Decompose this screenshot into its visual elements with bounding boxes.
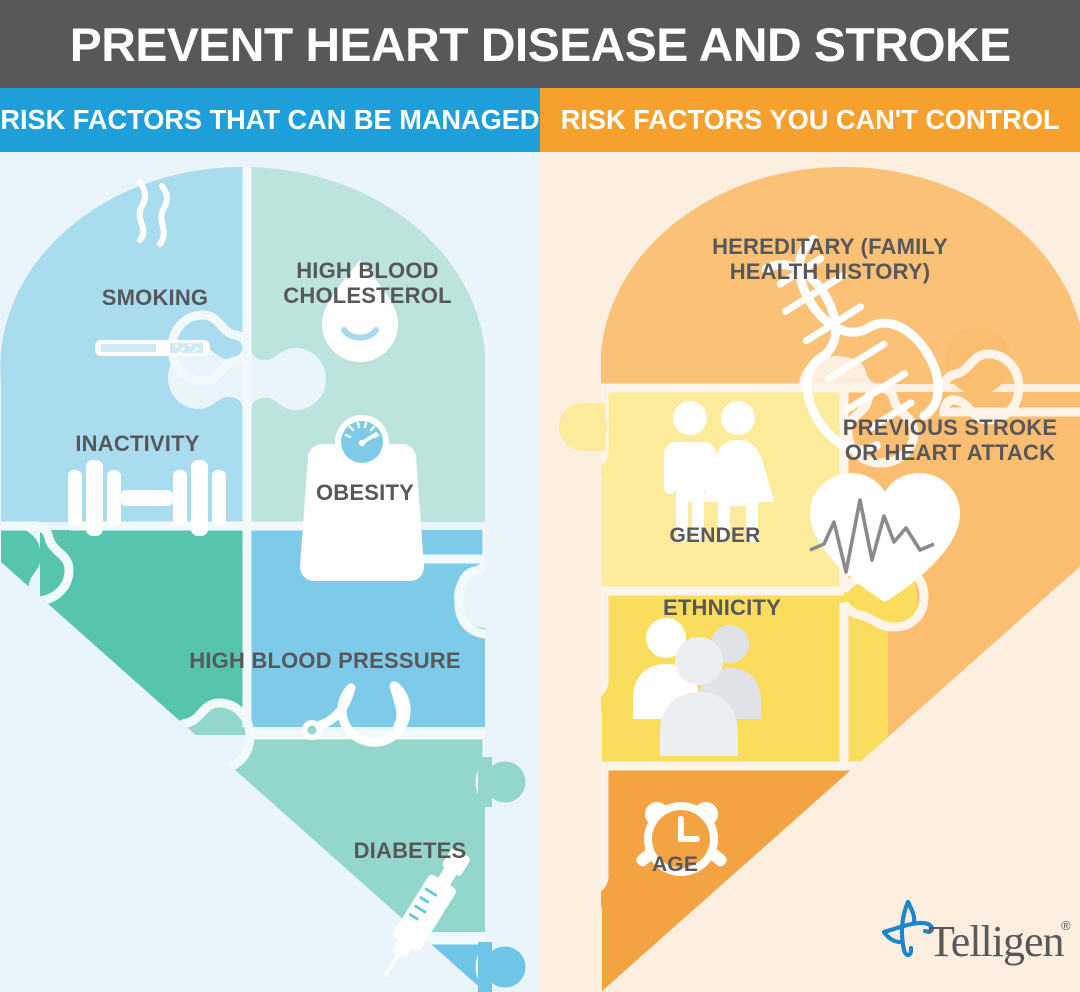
title-bar: PREVENT HEART DISEASE AND STROKE	[0, 0, 1080, 88]
telligen-logo: Telligen ®	[878, 898, 1068, 970]
right-section-title: RISK FACTORS YOU CAN'T CONTROL	[561, 104, 1060, 136]
left-section-title: RISK FACTORS THAT CAN BE MANAGED	[0, 104, 539, 136]
left-outer-knobs	[478, 757, 530, 992]
right-outer-knobs	[559, 403, 607, 451]
telligen-wordmark: Telligen	[928, 916, 1064, 967]
stethoscope-earpiece-icon	[302, 720, 322, 740]
infographic-root: PREVENT HEART DISEASE AND STROKE RISK FA…	[0, 0, 1080, 992]
cigarette-body-icon	[95, 340, 210, 356]
registered-trademark-icon: ®	[1061, 918, 1071, 933]
piece-inactivity[interactable]	[0, 527, 243, 727]
page-title: PREVENT HEART DISEASE AND STROKE	[70, 17, 1011, 72]
left-section-header: RISK FACTORS THAT CAN BE MANAGED	[0, 88, 540, 152]
right-section-header: RISK FACTORS YOU CAN'T CONTROL	[540, 88, 1080, 152]
heart-puzzle-graphic	[0, 152, 1080, 992]
